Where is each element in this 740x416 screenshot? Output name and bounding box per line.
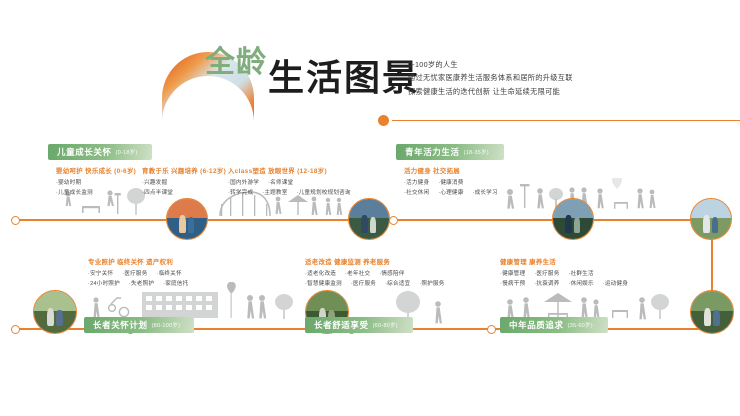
photo-elder-care — [690, 290, 734, 334]
badge-range: (18-35岁) — [464, 148, 489, 156]
bullet: ·活力健身 — [404, 178, 429, 186]
group-heading: 健康管理 康养生活 — [500, 257, 628, 266]
group-heading: 育教于乐 兴趣培养 (6-12岁) — [142, 166, 226, 175]
bullet-row: ·24小时照护 ·失老照护 ·家庭信托 — [88, 279, 188, 287]
subtitle-line-3: 探索健康生活的迭代创新 让生命延续无限可能 — [408, 85, 638, 98]
photo-elder-walk — [33, 290, 77, 334]
bullet: ·抗衰调养 — [534, 279, 559, 287]
bullet: ·心理健康 — [438, 188, 463, 196]
bullet: ·安宁关怀 — [88, 269, 113, 277]
group-children-0: 婴幼呵护 快乐成长 (0-6岁) ·婴幼时期 ·儿童成长监测 — [56, 166, 136, 196]
badge-range: (80-100岁) — [152, 321, 181, 329]
group-youth-0: 活力健身 社交拓展 ·活力健身 ·健康消费 ·社交休闲 ·心理健康 ·成长学习 — [404, 166, 498, 196]
page-title-accent: 全龄 — [205, 48, 267, 78]
group-children-1: 育教于乐 兴趣培养 (6-12岁) ·兴趣发掘 ·四点半课堂 — [142, 166, 226, 196]
bullet-row: ·兴趣发掘 — [142, 178, 226, 186]
page-title: 生活图景 — [268, 60, 420, 96]
header-rule — [392, 120, 740, 121]
subtitle-line-1: 0-100岁的人生 — [408, 58, 638, 71]
group-elder-comfort-0: 适老改造 健康监测 养老服务 ·适老化改造 ·老年社交 ·情感陪伴 ·智慧健康监… — [305, 257, 445, 287]
page-subtitle: 0-100岁的人生 通过无忧家医康养生活服务体系和居所的升级互联 探索健康生活的… — [408, 58, 638, 98]
bullet: ·四点半课堂 — [142, 188, 173, 196]
bullet: ·医疗服务 — [534, 269, 559, 277]
badge-title: 长者关怀计划 — [93, 319, 148, 331]
badge-title: 中年品质追求 — [509, 319, 564, 331]
badge-range: (0-18岁) — [116, 148, 138, 156]
bullet: ·婴幼时期 — [56, 178, 81, 186]
badge-range: (60-80岁) — [373, 321, 398, 329]
bullet-row: ·转学完成 ·主题教室 ·儿童规划校规划咨询 — [228, 188, 351, 196]
bullet: ·兴趣发掘 — [142, 178, 167, 186]
section-badge-midlife[interactable]: 中年品质追求 (35-60岁) — [500, 317, 608, 333]
bullet: ·医疗服务 — [351, 279, 376, 287]
infographic-canvas: 全龄 生活图景 0-100岁的人生 通过无忧家医康养生活服务体系和居所的升级互联… — [0, 0, 740, 416]
bullet: ·适老化改造 — [305, 269, 336, 277]
bullet: ·智慧健康监测 — [305, 279, 342, 287]
bullet-row: ·婴幼时期 — [56, 178, 136, 186]
timeline-node-4 — [11, 325, 20, 334]
timeline-node-1 — [11, 216, 20, 225]
bullet-row: ·慢病干预 ·抗衰调养 ·休闲娱乐 ·运动健身 — [500, 279, 628, 287]
bullet: ·健康管理 — [500, 269, 525, 277]
bullet-row: ·智慧健康监测 ·医疗服务 ·综合适宜 ·照护服务 — [305, 279, 445, 287]
bullet-row: ·儿童成长监测 — [56, 188, 136, 196]
bullet: ·儿童成长监测 — [56, 188, 93, 196]
bullet: ·健康消费 — [438, 178, 463, 186]
bullet-row: ·四点半课堂 — [142, 188, 226, 196]
photo-midlife-couple — [690, 198, 732, 240]
group-children-2: 入class塑造 放眼世界 (12-18岁) ·国内外游学 ·名师课堂 ·转学完… — [228, 166, 351, 196]
bullet: ·儿童规划校规划咨询 — [297, 188, 351, 196]
group-heading: 婴幼呵护 快乐成长 (0-6岁) — [56, 166, 136, 175]
section-badge-elder-care[interactable]: 长者关怀计划 (80-100岁) — [84, 317, 194, 333]
header-rule-dot — [378, 115, 389, 126]
bullet: ·综合适宜 — [385, 279, 410, 287]
bullet-row: ·健康管理 ·医疗服务 ·社群生活 — [500, 269, 628, 277]
section-badge-youth[interactable]: 青年活力生活 (18-35岁) — [396, 144, 504, 160]
section-badge-children[interactable]: 儿童成长关怀 (0-18岁) — [48, 144, 152, 160]
bullet: ·社群生活 — [569, 269, 594, 277]
bullet: ·国内外游学 — [228, 178, 259, 186]
bullet: ·休闲娱乐 — [569, 279, 594, 287]
badge-title: 儿童成长关怀 — [57, 146, 112, 158]
section-badge-elder-comfort[interactable]: 长者舒适享受 (60-80岁) — [305, 317, 413, 333]
bullet-row: ·国内外游学 ·名师课堂 — [228, 178, 351, 186]
group-heading: 专业照护 临终关怀 遗产权利 — [88, 257, 188, 266]
bullet-row: ·适老化改造 ·老年社交 ·情感陪伴 — [305, 269, 445, 277]
bullet-row: ·活力健身 ·健康消费 — [404, 178, 498, 186]
group-heading: 入class塑造 放眼世界 (12-18岁) — [228, 166, 351, 175]
bullet: ·运动健身 — [603, 279, 628, 287]
badge-range: (35-60岁) — [568, 321, 593, 329]
bullet: ·转学完成 — [228, 188, 253, 196]
group-heading: 活力健身 社交拓展 — [404, 166, 498, 175]
bullet: ·社交休闲 — [404, 188, 429, 196]
bullet-row: ·社交休闲 ·心理健康 ·成长学习 — [404, 188, 498, 196]
bullet: ·成长学习 — [473, 188, 498, 196]
badge-title: 长者舒适享受 — [314, 319, 369, 331]
bullet: ·失老照护 — [129, 279, 154, 287]
bullet: ·老年社交 — [345, 269, 370, 277]
photo-youth-active — [552, 198, 594, 240]
bullet: ·主题教室 — [262, 188, 287, 196]
group-midlife-0: 健康管理 康养生活 ·健康管理 ·医疗服务 ·社群生活 ·慢病干预 ·抗衰调养 … — [500, 257, 628, 287]
bullet-row: ·安宁关怀 ·医疗服务 ·临终关怀 — [88, 269, 188, 277]
bullet: ·医疗服务 — [122, 269, 147, 277]
bullet: ·照护服务 — [419, 279, 444, 287]
photo-children-play — [166, 198, 208, 240]
timeline-node-7 — [487, 325, 496, 334]
bullet: ·家庭信托 — [163, 279, 188, 287]
bullet: ·情感陪伴 — [379, 269, 404, 277]
group-heading: 适老改造 健康监测 养老服务 — [305, 257, 445, 266]
group-elder-care-0: 专业照护 临终关怀 遗产权利 ·安宁关怀 ·医疗服务 ·临终关怀 ·24小时照护… — [88, 257, 188, 287]
bullet: ·名师课堂 — [268, 178, 293, 186]
badge-title: 青年活力生活 — [405, 146, 460, 158]
bullet: ·24小时照护 — [88, 279, 120, 287]
bullet: ·慢病干预 — [500, 279, 525, 287]
subtitle-line-2: 通过无忧家医康养生活服务体系和居所的升级互联 — [408, 71, 638, 84]
timeline-node-3 — [389, 216, 398, 225]
bullet: ·临终关怀 — [157, 269, 182, 277]
photo-teen-learning — [348, 198, 390, 240]
